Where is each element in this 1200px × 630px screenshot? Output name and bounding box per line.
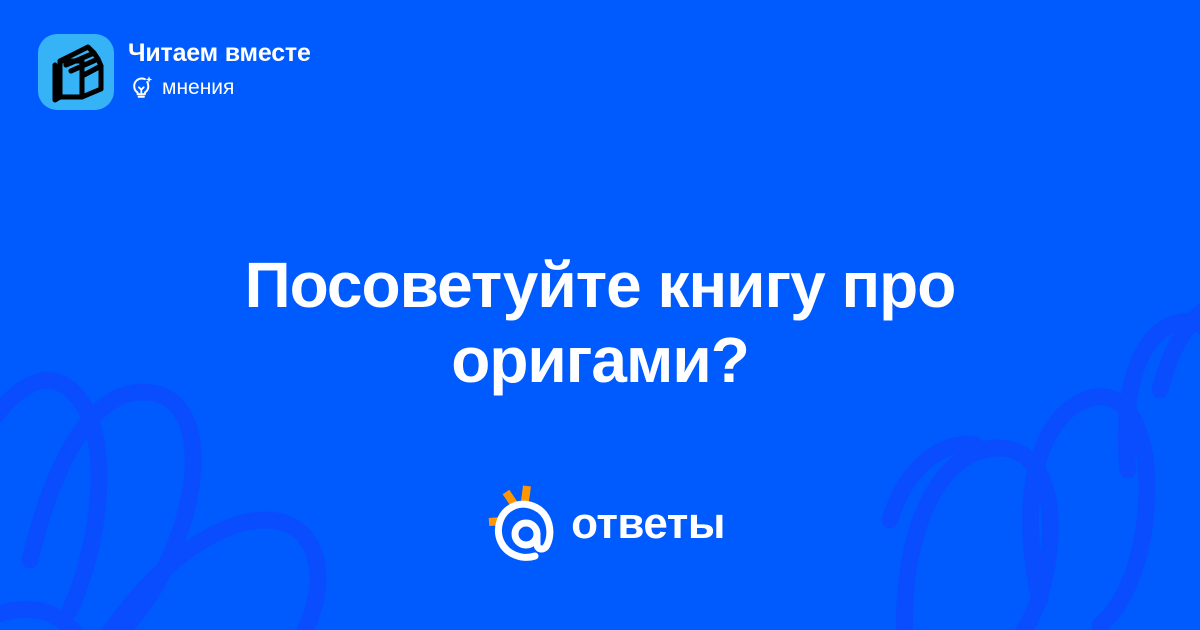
page-title: Посоветуйте книгу про оригами? — [0, 248, 1200, 399]
brand-title: Читаем вместе — [128, 38, 311, 68]
answers-logo-text: ответы — [571, 500, 725, 548]
headline-line-2: оригами? — [451, 324, 749, 396]
brand-text-block: Читаем вместе мнения — [128, 34, 311, 101]
brand-subtitle-row: мнения — [128, 75, 311, 101]
open-book-icon — [38, 34, 114, 110]
headline-line-1: Посоветуйте книгу про — [245, 249, 956, 321]
share-card: Читаем вместе мнения Посоветуйте книгу п… — [0, 0, 1200, 630]
brand-subtitle: мнения — [162, 76, 234, 100]
lightbulb-sparkle-icon — [128, 75, 154, 101]
answers-logo[interactable]: ответы — [0, 478, 1200, 570]
brand-header: Читаем вместе мнения — [38, 34, 311, 110]
at-sign-sun-icon — [475, 478, 567, 570]
